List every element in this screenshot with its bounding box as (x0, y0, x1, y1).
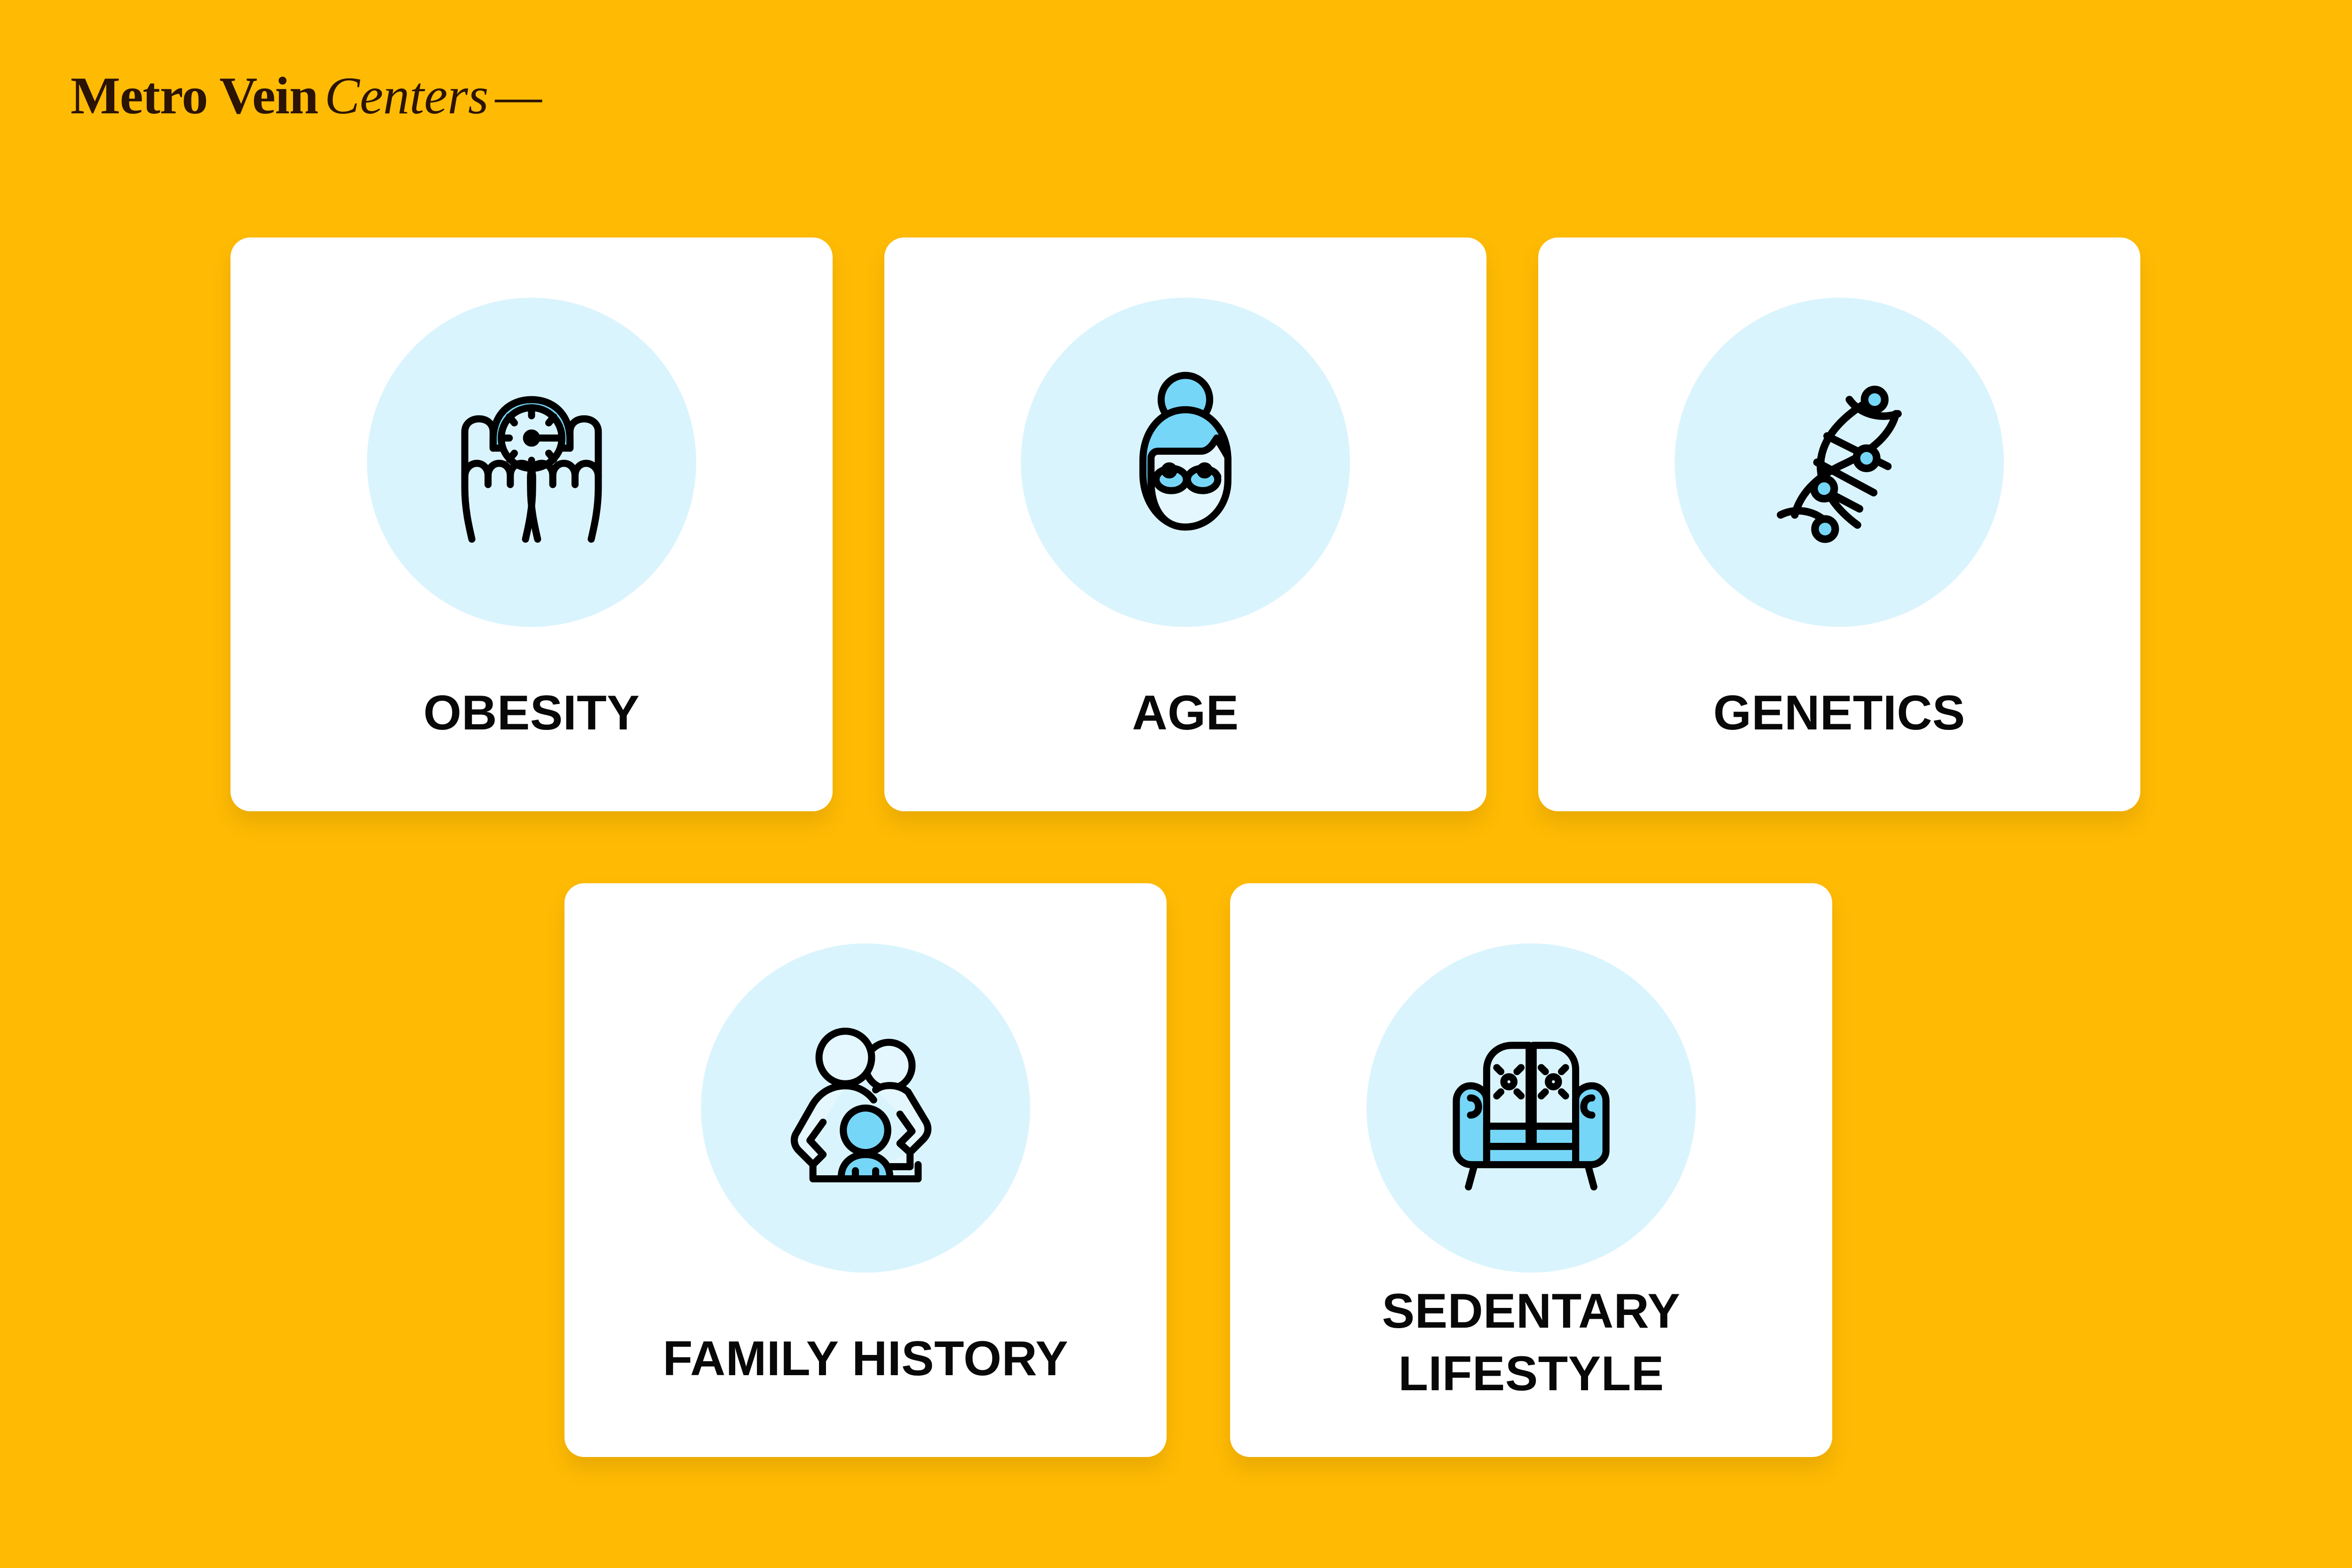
sofa-couch-icon (1430, 1007, 1632, 1209)
icon-circle-age (1021, 298, 1350, 627)
card-label-family-history: FAMILY HISTORY (564, 1328, 1167, 1390)
card-row-1: OBESITY (230, 238, 2140, 811)
card-age[interactable]: AGE (884, 238, 1486, 811)
risk-factor-card-grid: OBESITY (0, 0, 2352, 1568)
family-group-icon (764, 1007, 967, 1209)
card-label-line-1: SEDENTARY (1249, 1280, 1813, 1343)
elderly-woman-icon (1084, 361, 1287, 563)
dna-helix-icon (1738, 361, 1940, 563)
card-label-age: AGE (884, 682, 1486, 744)
card-label-genetics: GENETICS (1538, 682, 2140, 744)
card-genetics[interactable]: GENETICS (1538, 238, 2140, 811)
card-family-history[interactable]: FAMILY HISTORY (564, 883, 1167, 1457)
icon-circle-obesity (367, 298, 696, 627)
icon-circle-family-history (701, 943, 1030, 1273)
icon-circle-sedentary-lifestyle (1367, 943, 1696, 1273)
card-label-obesity: OBESITY (230, 682, 833, 744)
card-label-line-2: LIFESTYLE (1249, 1343, 1813, 1405)
card-row-2: FAMILY HISTORY (564, 883, 1832, 1457)
icon-circle-genetics (1675, 298, 2004, 627)
weight-scale-icon (430, 361, 633, 563)
card-obesity[interactable]: OBESITY (230, 238, 833, 811)
card-sedentary-lifestyle[interactable]: SEDENTARY LIFESTYLE (1230, 883, 1832, 1457)
card-label-sedentary-lifestyle: SEDENTARY LIFESTYLE (1230, 1280, 1832, 1405)
